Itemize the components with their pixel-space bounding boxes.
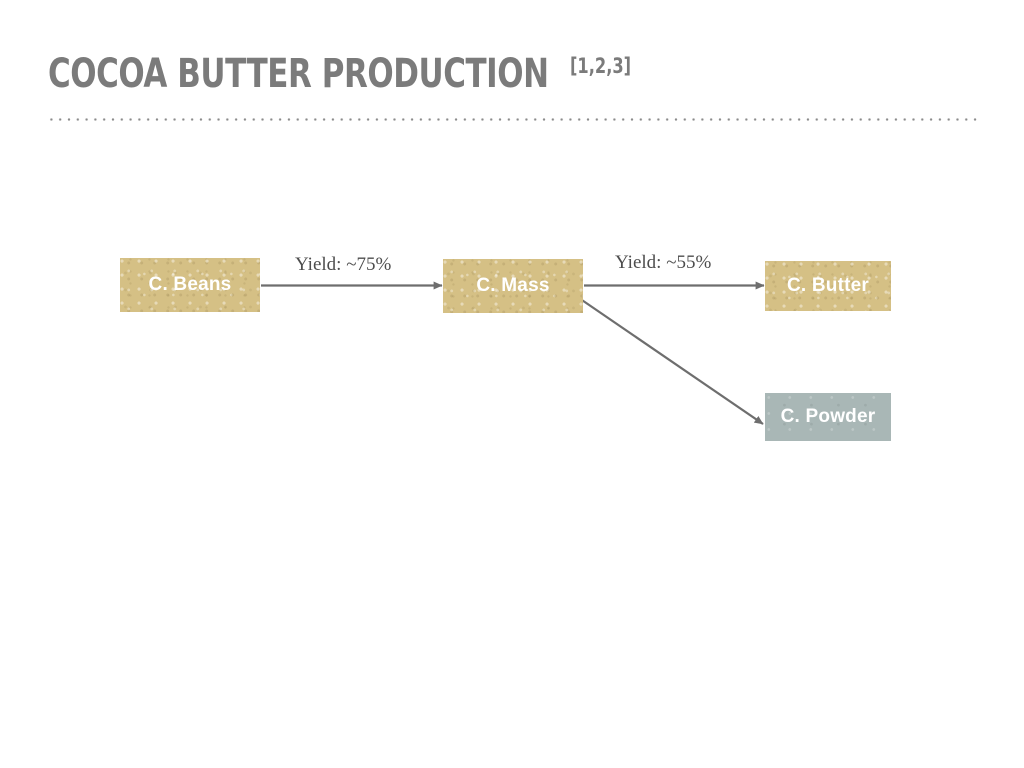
node-cocoa-powder[interactable]: C. Powder xyxy=(765,393,891,441)
node-cocoa-mass-label: C. Mass xyxy=(476,275,549,297)
edge-label-beans-to-mass: Yield: ~75% xyxy=(295,254,391,276)
node-cocoa-beans-label: C. Beans xyxy=(149,274,232,296)
process-flow-diagram: C. Beans C. Mass C. Butter C. Powder Yie… xyxy=(0,0,1024,768)
edge-label-mass-to-butter: Yield: ~55% xyxy=(615,252,711,274)
node-cocoa-beans[interactable]: C. Beans xyxy=(120,258,260,312)
slide-canvas: COCOA BUTTER PRODUCTION [1,2,3] C. Beans… xyxy=(0,0,1024,768)
node-cocoa-butter[interactable]: C. Butter xyxy=(765,261,891,311)
diagram-edges xyxy=(0,0,1024,768)
edge-mass-to-powder xyxy=(576,296,763,424)
node-cocoa-butter-label: C. Butter xyxy=(787,275,869,297)
node-cocoa-mass[interactable]: C. Mass xyxy=(443,259,583,313)
node-cocoa-powder-label: C. Powder xyxy=(781,406,876,428)
